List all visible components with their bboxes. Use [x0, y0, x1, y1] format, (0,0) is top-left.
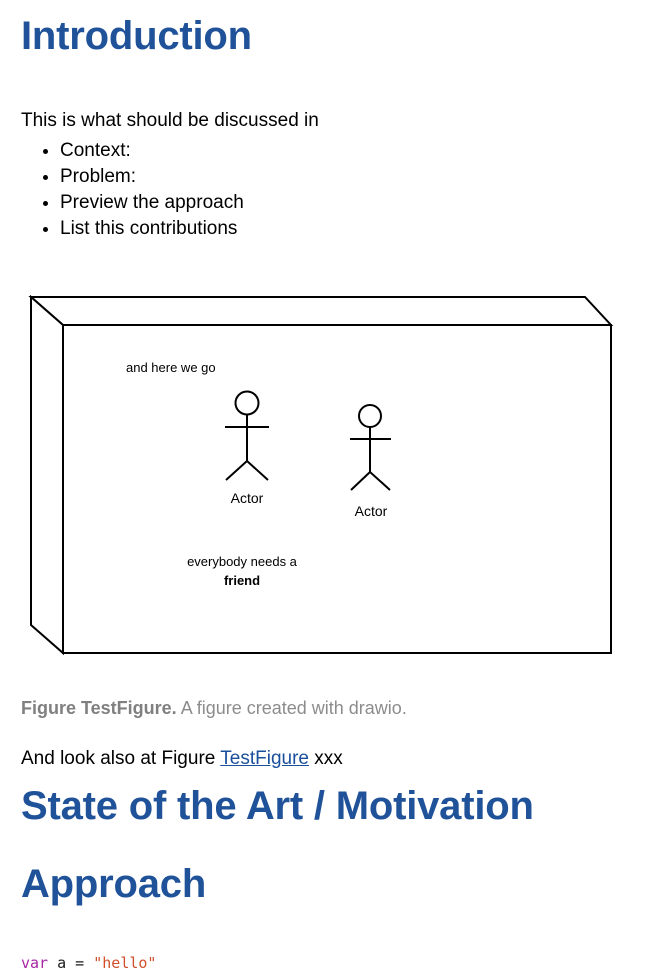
discussion-bullet-list: Context: Problem: Preview the approach L… [40, 138, 244, 242]
cube-left-face [31, 297, 63, 653]
figure-caption: Figure TestFigure. A figure created with… [21, 696, 407, 720]
figure-reference-paragraph: And look also at Figure TestFigure xxx [21, 746, 343, 772]
document-page: Introduction This is what should be disc… [0, 0, 648, 978]
figure-caption-label: Figure TestFigure. [21, 698, 177, 718]
code-token-string: "hello" [93, 954, 156, 972]
figure-drawio: and here we go Actor Actor everybody [0, 290, 648, 670]
actor-head-icon [359, 405, 381, 427]
drawio-diagram-svg: and here we go Actor Actor everybody [0, 290, 648, 665]
page-title-introduction: Introduction [21, 13, 252, 59]
list-item: Problem: [60, 164, 244, 190]
page-title-approach: Approach [21, 861, 206, 907]
list-item: List this contributions [60, 216, 244, 242]
figure-reference-link[interactable]: TestFigure [220, 748, 309, 769]
reference-text-after: xxx [309, 748, 343, 769]
list-item: Context: [60, 138, 244, 164]
list-item: Preview the approach [60, 190, 244, 216]
figure-caption-text: A figure created with drawio. [181, 698, 407, 718]
code-block: var a = "hello" [21, 953, 156, 973]
diagram-note-bottom-line2: friend [224, 573, 260, 588]
code-token-keyword: var [21, 954, 48, 972]
code-token-plain: a = [48, 954, 93, 972]
intro-paragraph: This is what should be discussed in [21, 108, 319, 134]
actor-label: Actor [355, 503, 388, 519]
cube-top-face [31, 297, 611, 325]
actor-head-icon [236, 392, 259, 415]
diagram-note-top: and here we go [126, 360, 216, 375]
reference-text-before: And look also at Figure [21, 748, 220, 769]
page-title-state-of-the-art: State of the Art / Motivation [21, 783, 534, 829]
diagram-note-bottom-line1: everybody needs a [187, 554, 298, 569]
actor-label: Actor [231, 490, 264, 506]
